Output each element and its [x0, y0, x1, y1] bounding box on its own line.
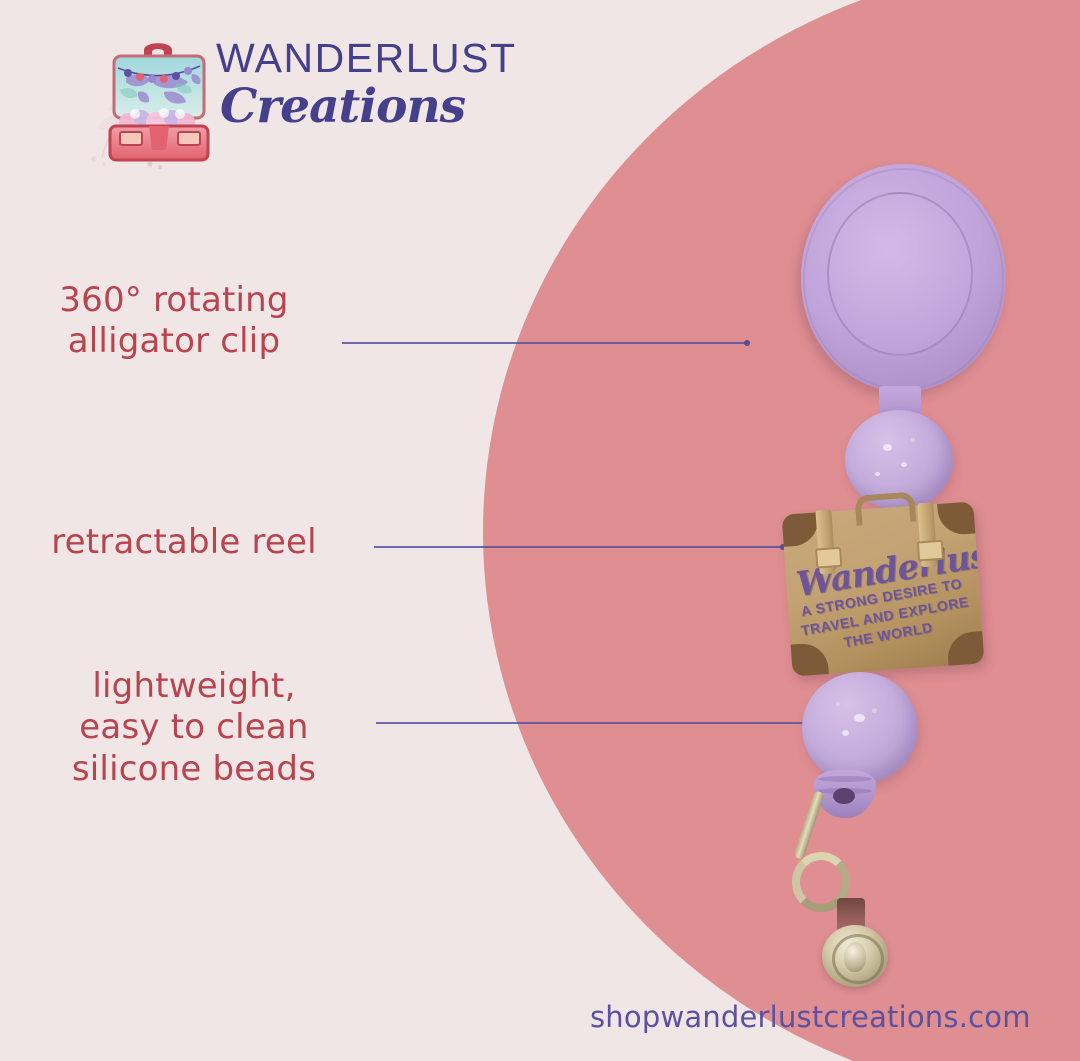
charm-body: Wanderlust A STRONG DESIRE TO TRAVEL AND… [782, 502, 985, 677]
product-badge-reel: Wanderlust A STRONG DESIRE TO TRAVEL AND… [0, 0, 1080, 1061]
charm-corner [782, 502, 820, 547]
promo-graphic: WANDERLUST Creations 360° rotating allig… [0, 0, 1080, 1061]
charm-corner [946, 630, 984, 675]
charm-handle [854, 492, 916, 526]
charm-buckle [815, 547, 842, 569]
website-url[interactable]: shopwanderlustcreations.com [590, 1000, 1031, 1034]
metal-snap [822, 925, 888, 987]
bead-bottom [802, 672, 918, 784]
wanderlust-suitcase-charm: Wanderlust A STRONG DESIRE TO TRAVEL AND… [782, 502, 985, 677]
reel-disc-inner [827, 192, 973, 356]
charm-corner [937, 502, 985, 536]
charm-buckle [917, 540, 944, 562]
clasp-hook [793, 790, 824, 860]
snap-core [844, 942, 866, 972]
swivel-clasp [786, 790, 848, 906]
reel-disc [801, 164, 1006, 392]
